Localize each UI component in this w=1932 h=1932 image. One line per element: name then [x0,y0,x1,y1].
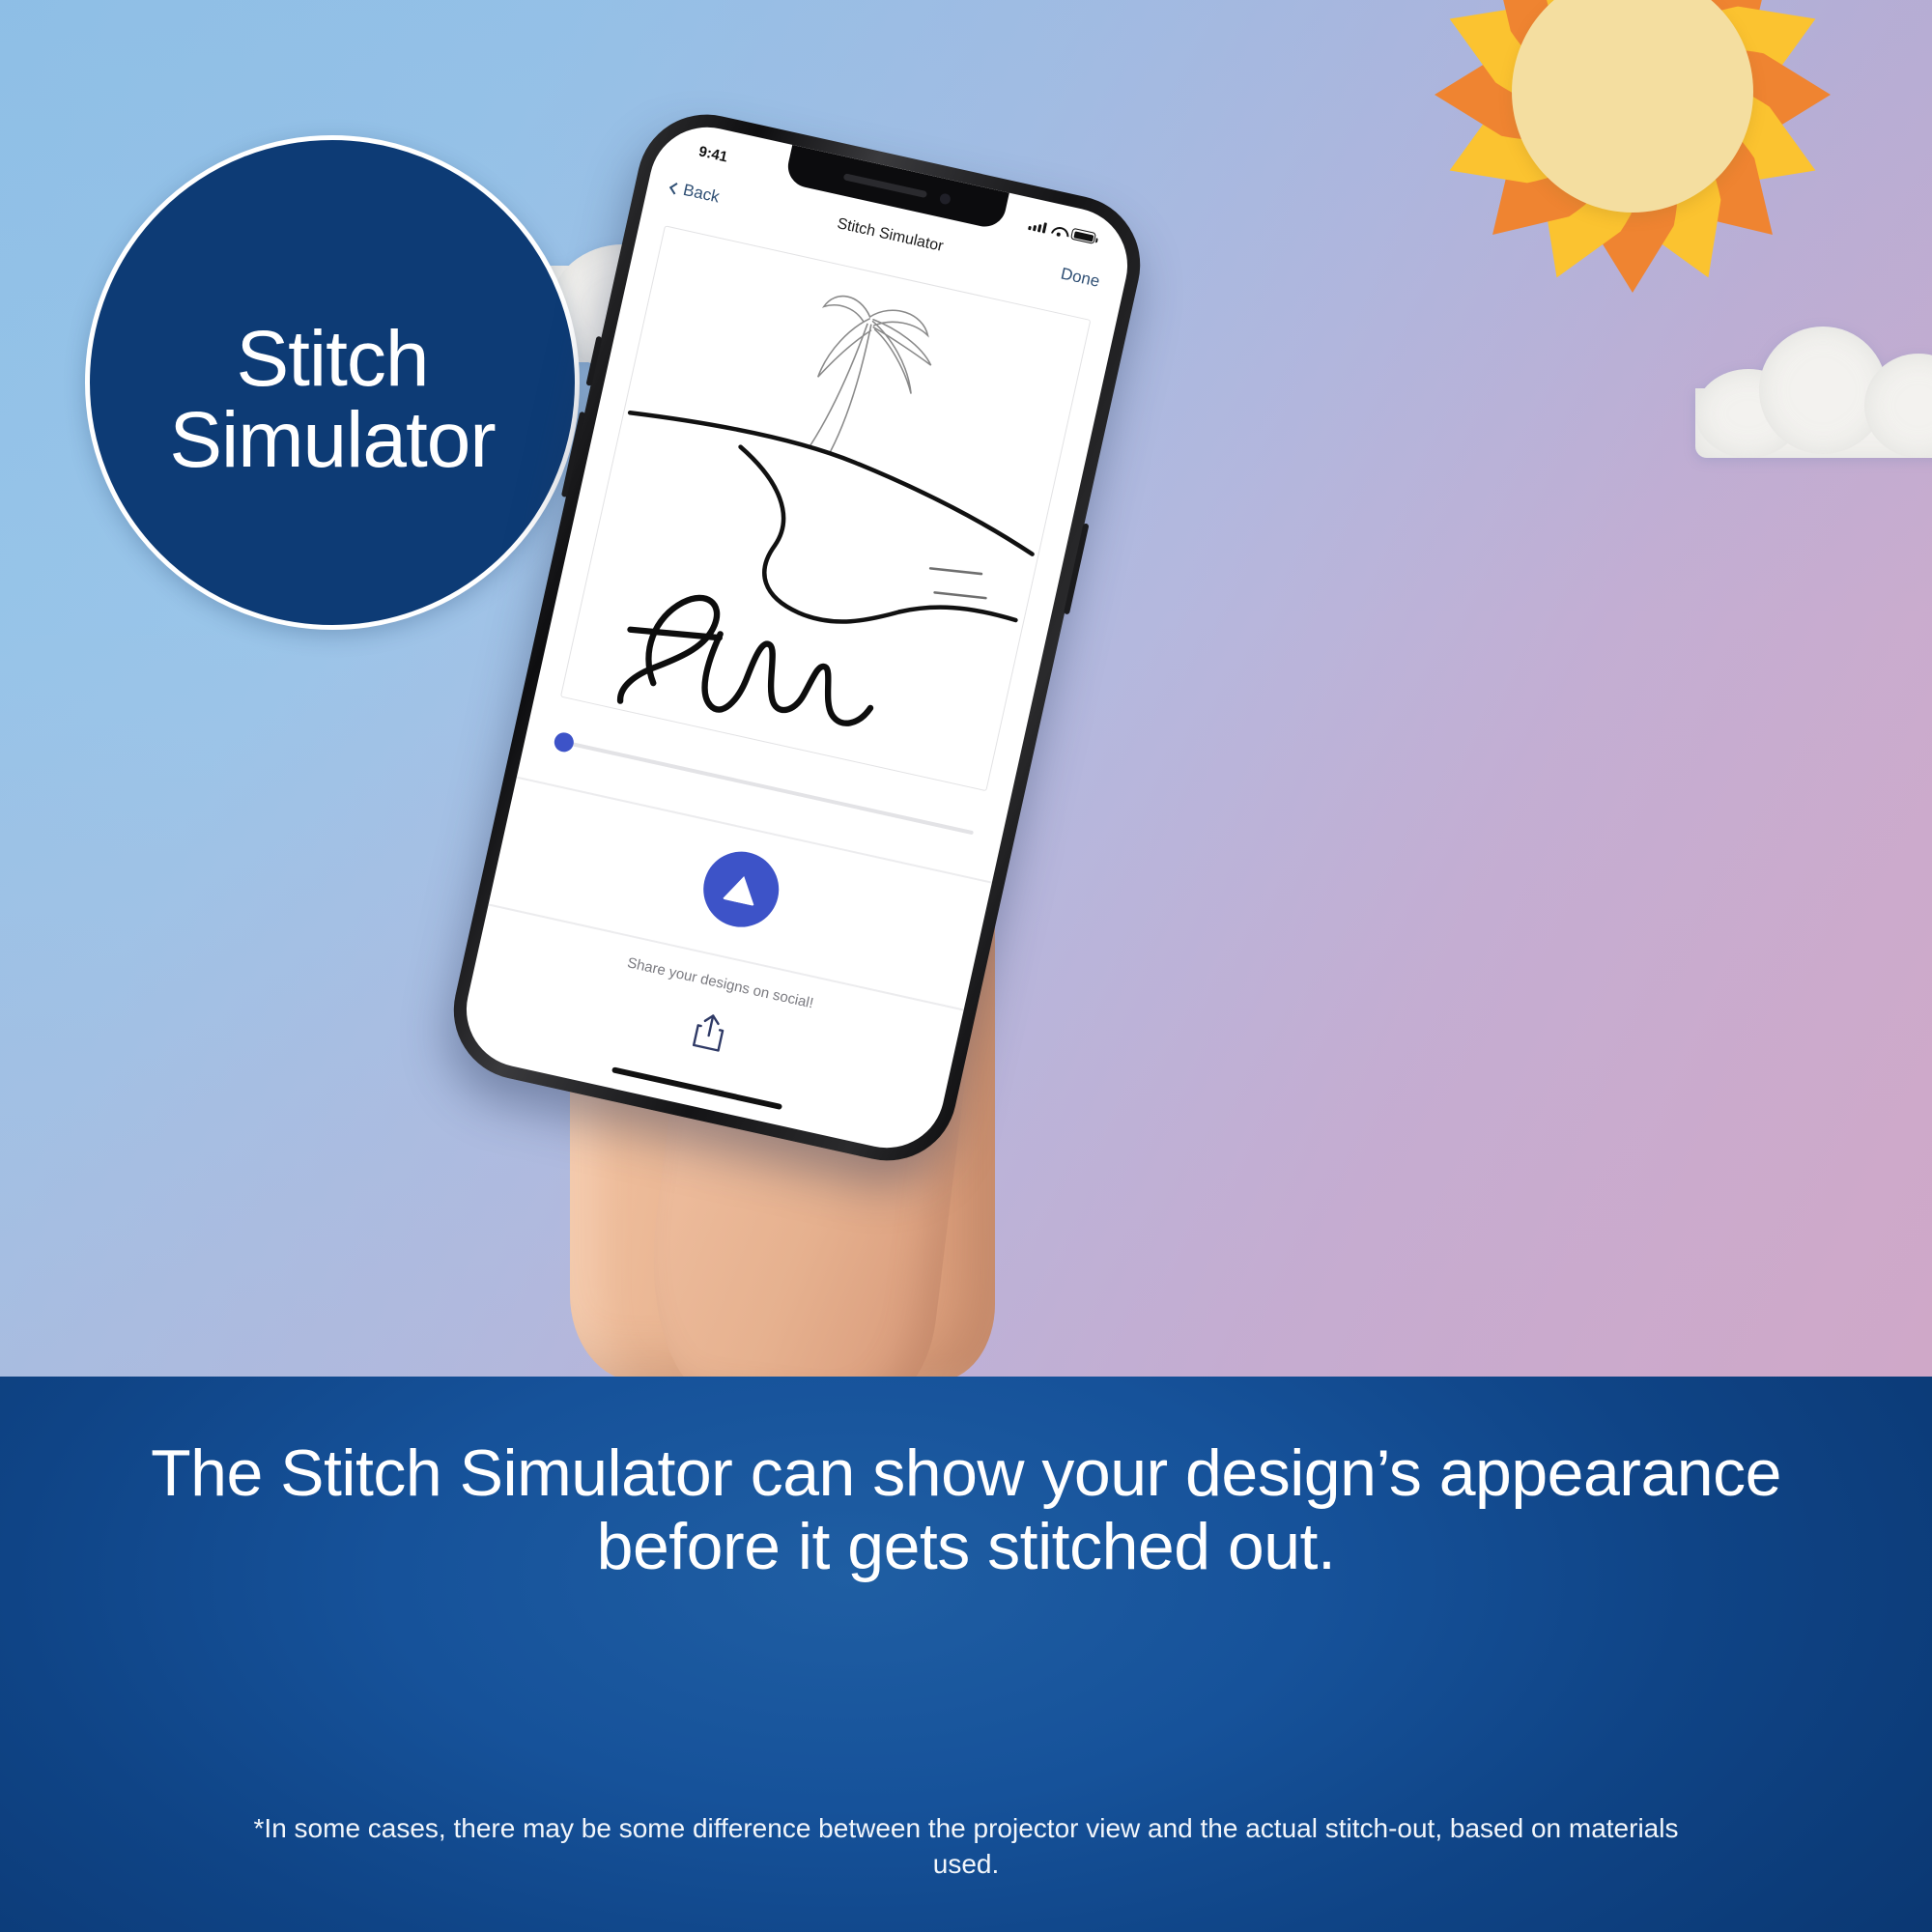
status-indicators [1028,218,1096,244]
design-artwork [561,226,1090,790]
share-icon[interactable] [690,1009,730,1054]
back-button[interactable]: Back [669,178,722,208]
back-button-label: Back [681,181,721,208]
home-indicator [611,1066,782,1110]
status-time: 9:41 [697,143,729,165]
bottom-banner: The Stitch Simulator can show your desig… [0,1377,1932,1932]
badge-line-1: Stitch [169,319,495,400]
play-button[interactable] [696,844,786,934]
app-title: Stitch Simulator [836,215,945,256]
wifi-icon [1051,224,1067,238]
play-triangle-icon [723,872,760,906]
battery-icon [1070,228,1096,244]
badge-line-2: Simulator [169,400,495,481]
signal-bars-icon [1028,219,1047,234]
front-camera-icon [938,192,951,205]
cloud-right-icon [1695,319,1932,454]
chevron-left-icon [669,183,681,194]
poster-canvas: Stitch Simulator [0,0,1932,1932]
badge-text: Stitch Simulator [169,284,495,482]
done-button[interactable]: Done [1059,264,1101,291]
banner-headline: The Stitch Simulator can show your desig… [0,1436,1932,1583]
sun-icon [1439,0,1826,285]
earpiece-speaker [842,173,926,198]
slider-knob[interactable] [553,730,576,753]
banner-footnote: *In some cases, there may be some differ… [0,1810,1932,1882]
design-canvas[interactable] [560,225,1092,791]
